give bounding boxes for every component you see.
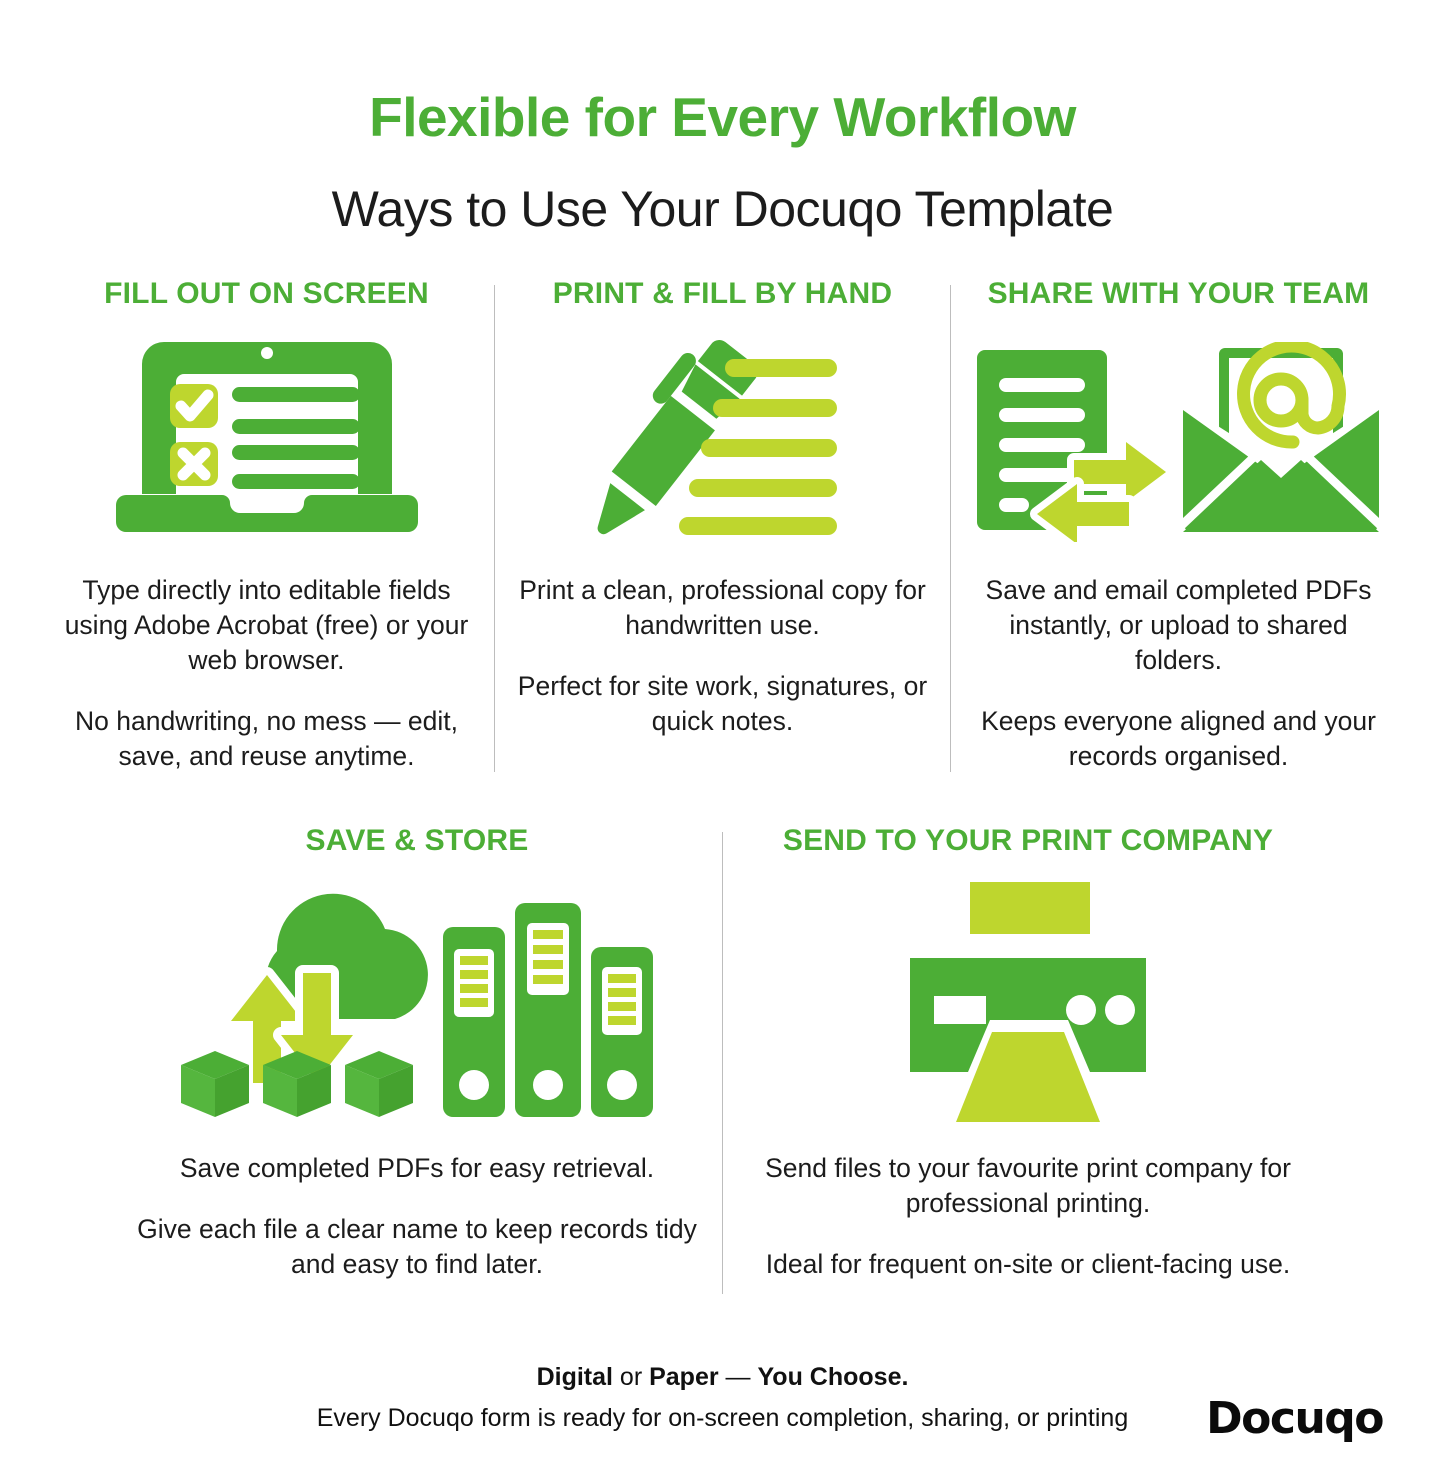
- card-print-and-fill-by-hand: PRINT & FILL BY HAND: [495, 277, 950, 739]
- card-body: Save completed PDFs for easy retrieval. …: [134, 1151, 700, 1282]
- footer: Digital or Paper — You Choose. Every Doc…: [0, 1359, 1445, 1438]
- infographic-page: Flexible for Every Workflow Ways to Use …: [0, 37, 1445, 1482]
- card-title: SEND TO YOUR PRINT COMPANY: [783, 824, 1273, 858]
- card-body: Type directly into editable fields using…: [57, 573, 476, 774]
- card-paragraph: Ideal for frequent on-site or client-fac…: [745, 1247, 1311, 1282]
- card-paragraph: Type directly into editable fields using…: [57, 573, 476, 678]
- card-paragraph: Send files to your favourite print compa…: [745, 1151, 1311, 1221]
- card-body: Save and email completed PDFs instantly,…: [969, 573, 1388, 774]
- card-paragraph: Perfect for site work, signatures, or qu…: [513, 669, 932, 739]
- card-title: SAVE & STORE: [305, 824, 528, 858]
- pen-writing-lines-icon: [583, 337, 863, 547]
- footer-tagline: Digital or Paper — You Choose.: [0, 1359, 1445, 1397]
- usage-row-top: FILL OUT ON SCREEN: [0, 277, 1445, 774]
- cloud-sync-binders-icon: [167, 880, 667, 1125]
- card-paragraph: No handwriting, no mess — edit, save, an…: [57, 704, 476, 774]
- card-title: PRINT & FILL BY HAND: [553, 277, 893, 311]
- card-send-to-print-company: SEND TO YOUR PRINT COMPANY Send: [723, 824, 1333, 1282]
- laptop-checklist-icon: [112, 337, 422, 547]
- card-body: Send files to your favourite print compa…: [745, 1151, 1311, 1282]
- printer-icon: [878, 880, 1178, 1125]
- card-share-with-your-team: SHARE WITH YOUR TEAM: [951, 277, 1406, 774]
- card-paragraph: Print a clean, professional copy for han…: [513, 573, 932, 643]
- footer-tagline-you-choose: You Choose.: [757, 1363, 908, 1391]
- card-body: Print a clean, professional copy for han…: [513, 573, 932, 739]
- footer-tagline-digital: Digital: [537, 1363, 613, 1391]
- card-paragraph: Save and email completed PDFs instantly,…: [969, 573, 1388, 678]
- card-paragraph: Save completed PDFs for easy retrieval.: [134, 1151, 700, 1186]
- page-title: Flexible for Every Workflow: [0, 37, 1445, 147]
- footer-tagline-paper: Paper: [649, 1363, 718, 1391]
- footer-tagline-sep2: —: [719, 1363, 758, 1391]
- document-exchange-email-icon: [969, 337, 1389, 547]
- usage-row-bottom: SAVE & STORE: [0, 824, 1445, 1294]
- card-fill-out-on-screen: FILL OUT ON SCREEN: [39, 277, 494, 774]
- card-title: FILL OUT ON SCREEN: [104, 277, 429, 311]
- card-paragraph: Give each file a clear name to keep reco…: [134, 1212, 700, 1282]
- footer-tagline-sep1: or: [613, 1363, 649, 1391]
- card-save-and-store: SAVE & STORE: [112, 824, 722, 1282]
- card-paragraph: Keeps everyone aligned and your records …: [969, 704, 1388, 774]
- card-title: SHARE WITH YOUR TEAM: [988, 277, 1370, 311]
- docuqo-logo: Docuqo: [1206, 1393, 1383, 1444]
- page-subtitle: Ways to Use Your Docuqo Template: [0, 183, 1445, 236]
